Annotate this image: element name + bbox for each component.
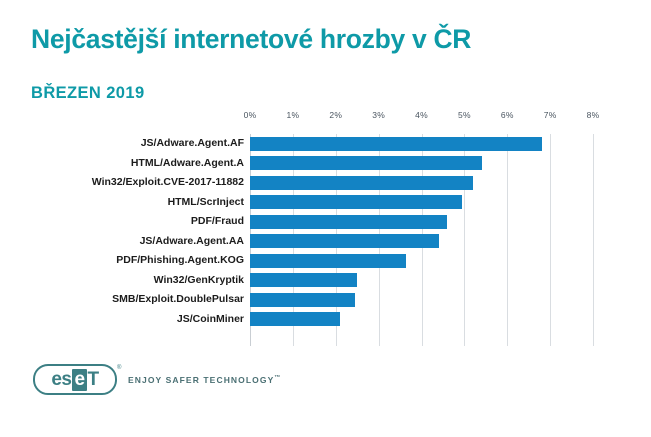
bar-chart: 0%1%2%3%4%5%6%7%8% JS/Adware.Agent.AFHTM…	[0, 110, 651, 350]
eset-logo-part1: es	[51, 370, 71, 389]
category-label: HTML/Adware.Agent.A	[0, 154, 244, 174]
bar-row	[250, 290, 593, 310]
bar-row	[250, 134, 593, 154]
eset-logo: eseT	[33, 364, 117, 395]
bar-row	[250, 271, 593, 291]
eset-logo-inverted-e: e	[72, 369, 86, 391]
trademark-mark: ™	[274, 375, 280, 381]
category-label: HTML/ScrInject	[0, 193, 244, 213]
category-label: PDF/Fraud	[0, 212, 244, 232]
registered-trademark-mark: ®	[117, 365, 121, 371]
x-axis-tick-7: 7%	[544, 110, 557, 120]
infographic-page: Nejčastější internetové hrozby v ČR BŘEZ…	[0, 0, 651, 437]
bar[interactable]	[250, 215, 447, 229]
bar[interactable]	[250, 312, 340, 326]
bar-row	[250, 154, 593, 174]
x-axis-tick-0: 0%	[244, 110, 257, 120]
category-label: Win32/GenKryptik	[0, 271, 244, 291]
bar[interactable]	[250, 176, 473, 190]
eset-wordmark: eseT	[51, 369, 98, 391]
category-label: PDF/Phishing.Agent.KOG	[0, 251, 244, 271]
plot-area	[250, 134, 593, 346]
category-label: SMB/Exploit.DoublePulsar	[0, 290, 244, 310]
page-subtitle: BŘEZEN 2019	[31, 84, 145, 103]
bar-row	[250, 212, 593, 232]
bar[interactable]	[250, 234, 439, 248]
footer: eseT ® ENJOY SAFER TECHNOLOGY™	[0, 355, 651, 415]
bar[interactable]	[250, 137, 542, 151]
bar-row	[250, 310, 593, 330]
eset-logo-part2: T	[88, 370, 99, 389]
bar[interactable]	[250, 273, 357, 287]
x-axis-tick-labels: 0%1%2%3%4%5%6%7%8%	[250, 110, 593, 132]
bar[interactable]	[250, 156, 482, 170]
category-label: JS/Adware.Agent.AF	[0, 134, 244, 154]
bar-series	[250, 134, 593, 329]
x-axis-tick-4: 4%	[415, 110, 428, 120]
page-title: Nejčastější internetové hrozby v ČR	[31, 24, 471, 55]
category-label: Win32/Exploit.CVE-2017-11882	[0, 173, 244, 193]
x-axis-tick-5: 5%	[458, 110, 471, 120]
bar-row	[250, 232, 593, 252]
bar-row	[250, 251, 593, 271]
gridline-8	[593, 134, 594, 346]
category-label: JS/Adware.Agent.AA	[0, 232, 244, 252]
x-axis-tick-2: 2%	[329, 110, 342, 120]
x-axis-tick-8: 8%	[587, 110, 600, 120]
bar-row	[250, 173, 593, 193]
x-axis-tick-6: 6%	[501, 110, 514, 120]
x-axis-tick-3: 3%	[372, 110, 385, 120]
bar[interactable]	[250, 195, 462, 209]
bar-row	[250, 193, 593, 213]
category-labels: JS/Adware.Agent.AFHTML/Adware.Agent.AWin…	[0, 134, 244, 329]
bar[interactable]	[250, 293, 355, 307]
x-axis-tick-1: 1%	[287, 110, 300, 120]
eset-tagline: ENJOY SAFER TECHNOLOGY™	[128, 375, 280, 385]
bar[interactable]	[250, 254, 406, 268]
eset-tagline-text: ENJOY SAFER TECHNOLOGY	[128, 375, 274, 385]
category-label: JS/CoinMiner	[0, 310, 244, 330]
